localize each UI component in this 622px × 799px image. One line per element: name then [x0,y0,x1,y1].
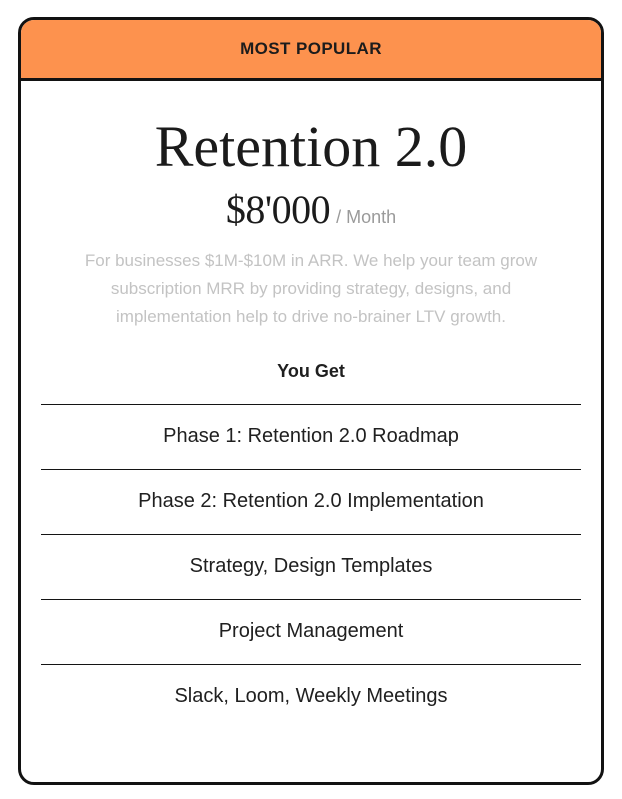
feature-list-item: Phase 2: Retention 2.0 Implementation [41,469,581,534]
feature-list-item: Slack, Loom, Weekly Meetings [41,664,581,729]
features-heading: You Get [41,361,581,382]
plan-title: Retention 2.0 [41,109,581,180]
feature-label: Strategy, Design Templates [190,555,433,578]
pricing-card-body: Retention 2.0 $8'000/ Month For business… [21,81,601,782]
feature-list-item: Strategy, Design Templates [41,534,581,599]
price-period: / Month [336,207,396,227]
feature-list-item: Project Management [41,599,581,664]
page-root: MOST POPULAR Retention 2.0 $8'000/ Month… [0,0,622,799]
feature-list-item: Phase 1: Retention 2.0 Roadmap [41,404,581,469]
feature-label: Project Management [219,620,404,643]
price-row: $8'000/ Month [41,186,581,233]
most-popular-badge: MOST POPULAR [21,20,601,81]
plan-description: For businesses $1M-$10M in ARR. We help … [55,247,567,331]
feature-label: Slack, Loom, Weekly Meetings [174,685,447,708]
feature-label: Phase 1: Retention 2.0 Roadmap [163,425,459,448]
price-amount: $8'000 [226,187,330,232]
feature-list: Phase 1: Retention 2.0 Roadmap Phase 2: … [41,404,581,729]
feature-label: Phase 2: Retention 2.0 Implementation [138,490,484,513]
pricing-card: MOST POPULAR Retention 2.0 $8'000/ Month… [18,17,604,785]
most-popular-badge-label: MOST POPULAR [240,39,382,59]
